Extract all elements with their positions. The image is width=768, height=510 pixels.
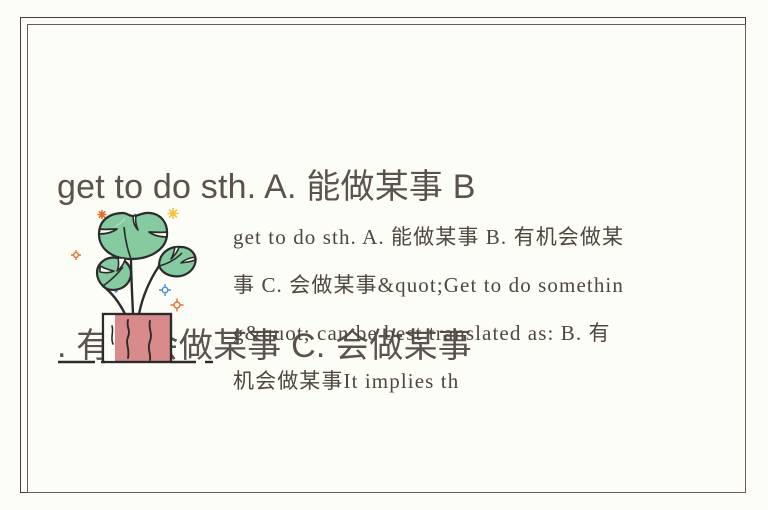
page-canvas: get to do sth. A. 能做某事 B . 有机会做某事 C. 会做某… [0,0,768,510]
sparkle-orange-top [98,210,107,219]
leaf-top-center [99,213,167,259]
sparkle-yellow-top [168,208,179,219]
sparkle-blue-right [159,284,171,296]
leaf-right [159,247,196,276]
article-body-text: get to do sth. A. 能做某事 B. 有机会做某事 C. 会做某事… [233,213,629,461]
plant-pot [103,314,171,362]
illustration-potted-plant [55,196,217,368]
sparkle-orange-left [71,250,81,260]
sparkle-orange-right [171,299,184,312]
leaf-left [97,258,131,290]
